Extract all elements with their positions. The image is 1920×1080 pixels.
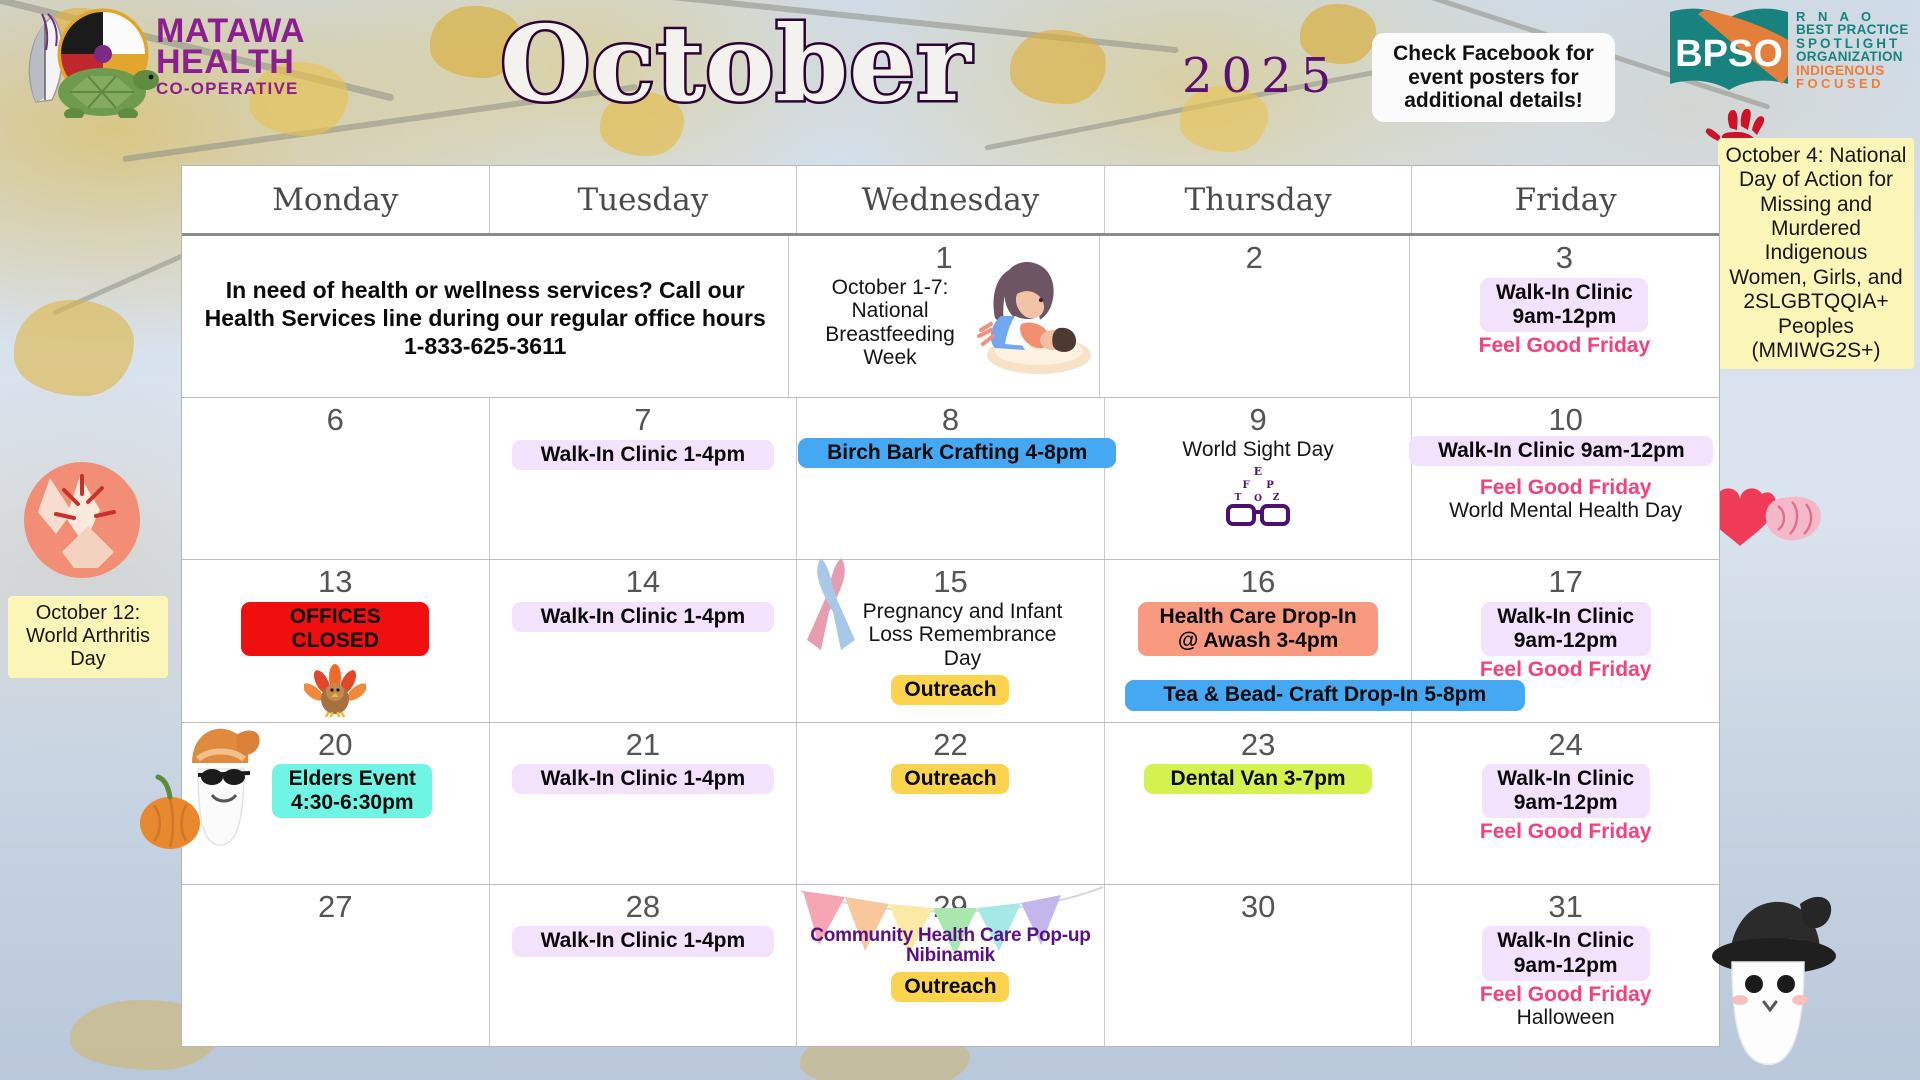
event-badge-walk-in-clinic[interactable]: Walk-In Clinic 1-4pm bbox=[512, 764, 774, 794]
day-cell-7[interactable]: 7 Walk-In Clinic 1-4pm bbox=[490, 398, 798, 559]
day-number: 20 bbox=[318, 729, 352, 762]
autumn-leaf bbox=[14, 300, 134, 396]
event-badge-offices-closed[interactable]: OFFICES CLOSED bbox=[241, 602, 429, 656]
event-badge-dental-van[interactable]: Dental Van 3-7pm bbox=[1144, 764, 1372, 794]
medicine-wheel-turtle-icon bbox=[18, 6, 168, 118]
event-badge-walk-in-clinic[interactable]: Walk-In Clinic 9am-12pm bbox=[1482, 926, 1650, 980]
day-cell-15[interactable]: 15 Pregnancy and Infant Loss Remembrance… bbox=[797, 560, 1105, 721]
day-number: 1 bbox=[935, 242, 952, 275]
day-cell-13[interactable]: 13 OFFICES CLOSED bbox=[182, 560, 490, 721]
logo-line-2: HEALTH bbox=[156, 47, 305, 78]
bpso-line-2: BEST PRACTICE bbox=[1796, 23, 1909, 37]
day-header-thursday: Thursday bbox=[1105, 166, 1413, 233]
bpso-line-4: ORGANIZATION bbox=[1796, 50, 1909, 64]
ghost-pumpkin-icon bbox=[140, 719, 280, 851]
day-header-wednesday: Wednesday bbox=[797, 166, 1105, 233]
calendar-week-row: 27 28 Walk-In Clinic 1-4pm 29 Community … bbox=[182, 885, 1719, 1046]
day-number: 7 bbox=[634, 404, 651, 437]
day-cell-8[interactable]: 8 Birch Bark Crafting 4-8pm bbox=[797, 398, 1105, 559]
event-badge-elders-event[interactable]: Elders Event 4:30-6:30pm bbox=[272, 764, 432, 818]
bpso-line-3: SPOTLIGHT bbox=[1796, 37, 1909, 51]
calendar-week-row: 13 OFFICES CLOSED bbox=[182, 560, 1719, 722]
calendar-week-row: 6 7 Walk-In Clinic 1-4pm 8 Birch Bark Cr… bbox=[182, 398, 1719, 560]
calendar-header-row: Monday Tuesday Wednesday Thursday Friday bbox=[182, 166, 1719, 236]
day-number: 27 bbox=[318, 891, 352, 924]
calendar-week-row: In need of health or wellness services? … bbox=[182, 236, 1719, 398]
turkey-icon bbox=[304, 661, 366, 717]
event-badge-outreach[interactable]: Outreach bbox=[891, 675, 1009, 705]
svg-text:P: P bbox=[1266, 480, 1274, 491]
day-number: 14 bbox=[626, 566, 660, 599]
day-header-friday: Friday bbox=[1412, 166, 1719, 233]
feel-good-friday-label: Feel Good Friday bbox=[1480, 983, 1652, 1006]
svg-text:Z: Z bbox=[1273, 493, 1280, 503]
event-badge-walk-in-clinic[interactable]: Walk-In Clinic 9am-12pm bbox=[1482, 764, 1650, 818]
day-note: World Sight Day bbox=[1182, 438, 1333, 462]
event-badge-walk-in-clinic[interactable]: Walk-In Clinic 9am-12pm bbox=[1481, 602, 1651, 656]
day-cell-22[interactable]: 22 Outreach bbox=[797, 723, 1105, 884]
event-badge-walk-in-clinic[interactable]: Walk-In Clinic 9am-12pm bbox=[1409, 436, 1713, 466]
calendar-week-row: 20 Elders Event 4:30-6:30pm 21 Walk-In C… bbox=[182, 723, 1719, 885]
page-title: October bbox=[500, 2, 972, 125]
matawa-logo: MATAWA HEALTH CO-OPERATIVE bbox=[18, 6, 338, 118]
event-badge-birch-bark-crafting[interactable]: Birch Bark Crafting 4-8pm bbox=[798, 438, 1116, 468]
day-number: 2 bbox=[1246, 242, 1263, 275]
day-cell-16[interactable]: 16 Health Care Drop-In @ Awash 3-4pm Tea… bbox=[1105, 560, 1413, 721]
feel-good-friday-label: Feel Good Friday bbox=[1480, 476, 1652, 499]
day-cell-10[interactable]: 10 Walk-In Clinic 9am-12pm Feel Good Fri… bbox=[1412, 398, 1719, 559]
sticky-note-mmiwg: October 4: National Day of Action for Mi… bbox=[1718, 138, 1914, 369]
day-number: 3 bbox=[1556, 242, 1573, 275]
svg-text:F: F bbox=[1243, 480, 1250, 491]
day-number: 6 bbox=[327, 404, 344, 437]
day-cell-24[interactable]: 24 Walk-In Clinic 9am-12pm Feel Good Fri… bbox=[1412, 723, 1719, 884]
feel-good-friday-label: Feel Good Friday bbox=[1480, 658, 1652, 681]
day-cell-3[interactable]: 3 Walk-In Clinic 9am-12pm Feel Good Frid… bbox=[1410, 236, 1719, 397]
day-note: Pregnancy and Infant Loss Remembrance Da… bbox=[851, 600, 1073, 671]
day-number: 10 bbox=[1548, 404, 1582, 437]
feel-good-friday-label: Feel Good Friday bbox=[1479, 334, 1651, 357]
day-cell-9[interactable]: 9 World Sight Day E FP TOZ bbox=[1105, 398, 1413, 559]
day-header-tuesday: Tuesday bbox=[490, 166, 798, 233]
matawa-logo-text: MATAWA HEALTH CO-OPERATIVE bbox=[156, 16, 305, 96]
facebook-note: Check Facebook for event posters for add… bbox=[1372, 33, 1615, 122]
event-badge-outreach[interactable]: Outreach bbox=[891, 764, 1009, 794]
day-number: 31 bbox=[1548, 891, 1582, 924]
day-note: October 1-7: National Breastfeeding Week bbox=[803, 276, 978, 370]
day-cell-23[interactable]: 23 Dental Van 3-7pm bbox=[1105, 723, 1413, 884]
day-number: 16 bbox=[1241, 566, 1275, 599]
bpso-logo: BPSO R N A O BEST PRACTICE SPOTLIGHT ORG… bbox=[1668, 2, 1916, 106]
day-cell-27[interactable]: 27 bbox=[182, 885, 490, 1046]
sticky-note-arthritis: October 12: World Arthritis Day bbox=[8, 596, 168, 678]
breastfeeding-illustration bbox=[965, 258, 1093, 378]
day-number: 15 bbox=[933, 566, 967, 599]
event-badge-walk-in-clinic[interactable]: Walk-In Clinic 1-4pm bbox=[512, 602, 774, 632]
event-badge-walk-in-clinic[interactable]: Walk-In Clinic 9am-12pm bbox=[1480, 278, 1648, 332]
day-number: 29 bbox=[933, 891, 967, 924]
day-number: 22 bbox=[933, 729, 967, 762]
day-cell-29[interactable]: 29 Community Health Care Pop-up Nibinami… bbox=[797, 885, 1105, 1046]
bpso-line-5: INDIGENOUS bbox=[1796, 64, 1909, 78]
day-header-monday: Monday bbox=[182, 166, 490, 233]
day-number: 24 bbox=[1548, 729, 1582, 762]
event-badge-walk-in-clinic[interactable]: Walk-In Clinic 1-4pm bbox=[512, 926, 774, 956]
svg-text:O: O bbox=[1254, 494, 1262, 504]
day-cell-1[interactable]: 1 October 1-7: National Breastfeeding We… bbox=[789, 236, 1099, 397]
day-cell-6[interactable]: 6 bbox=[182, 398, 490, 559]
day-number: 9 bbox=[1249, 404, 1266, 437]
day-cell-28[interactable]: 28 Walk-In Clinic 1-4pm bbox=[490, 885, 798, 1046]
day-number: 13 bbox=[318, 566, 352, 599]
calendar-grid: Monday Tuesday Wednesday Thursday Friday… bbox=[181, 165, 1720, 1047]
day-number: 30 bbox=[1241, 891, 1275, 924]
promo-cell: In need of health or wellness services? … bbox=[182, 236, 789, 397]
svg-text:BPSO: BPSO bbox=[1675, 33, 1783, 75]
day-number: 23 bbox=[1241, 729, 1275, 762]
day-number: 21 bbox=[626, 729, 660, 762]
day-number: 28 bbox=[626, 891, 660, 924]
day-cell-14[interactable]: 14 Walk-In Clinic 1-4pm bbox=[490, 560, 798, 721]
health-services-promo: In need of health or wellness services? … bbox=[188, 276, 782, 360]
event-badge-walk-in-clinic[interactable]: Walk-In Clinic 1-4pm bbox=[512, 440, 774, 470]
day-cell-2[interactable]: 2 bbox=[1100, 236, 1410, 397]
day-cell-21[interactable]: 21 Walk-In Clinic 1-4pm bbox=[490, 723, 798, 884]
day-cell-30[interactable]: 30 bbox=[1105, 885, 1413, 1046]
logo-line-3: CO-OPERATIVE bbox=[156, 81, 305, 97]
svg-text:T: T bbox=[1235, 493, 1242, 503]
feel-good-friday-label: Feel Good Friday bbox=[1480, 820, 1652, 843]
bpso-wordmark: R N A O BEST PRACTICE SPOTLIGHT ORGANIZA… bbox=[1796, 10, 1909, 90]
calendar-page: MATAWA HEALTH CO-OPERATIVE October 2025 … bbox=[0, 0, 1920, 1080]
year-label: 2025 bbox=[1182, 48, 1340, 104]
eye-chart-glasses-icon: E FP TOZ bbox=[1216, 462, 1300, 528]
day-note: World Mental Health Day bbox=[1449, 499, 1682, 523]
event-badge-outreach[interactable]: Outreach bbox=[891, 972, 1009, 1002]
bpso-line-6: FOCUSED bbox=[1796, 77, 1909, 90]
day-number: 8 bbox=[942, 404, 959, 437]
day-cell-20[interactable]: 20 Elders Event 4:30-6:30pm bbox=[182, 723, 490, 884]
autumn-leaf bbox=[1010, 30, 1106, 104]
day-cell-31[interactable]: 31 Walk-In Clinic 9am-12pm Feel Good Fri… bbox=[1412, 885, 1719, 1046]
svg-text:E: E bbox=[1254, 465, 1262, 478]
event-badge-health-care-drop-in[interactable]: Health Care Drop-In @ Awash 3-4pm bbox=[1138, 602, 1378, 656]
bpso-book-icon: BPSO bbox=[1668, 6, 1790, 98]
day-number: 17 bbox=[1548, 566, 1582, 599]
autumn-leaf bbox=[34, 470, 138, 552]
community-pop-up-title: Community Health Care Pop-up Nibinamik bbox=[803, 926, 1098, 966]
event-badge-tea-and-bead-craft-drop-in[interactable]: Tea & Bead- Craft Drop-In 5-8pm bbox=[1125, 680, 1525, 710]
day-note: Halloween bbox=[1517, 1006, 1615, 1030]
